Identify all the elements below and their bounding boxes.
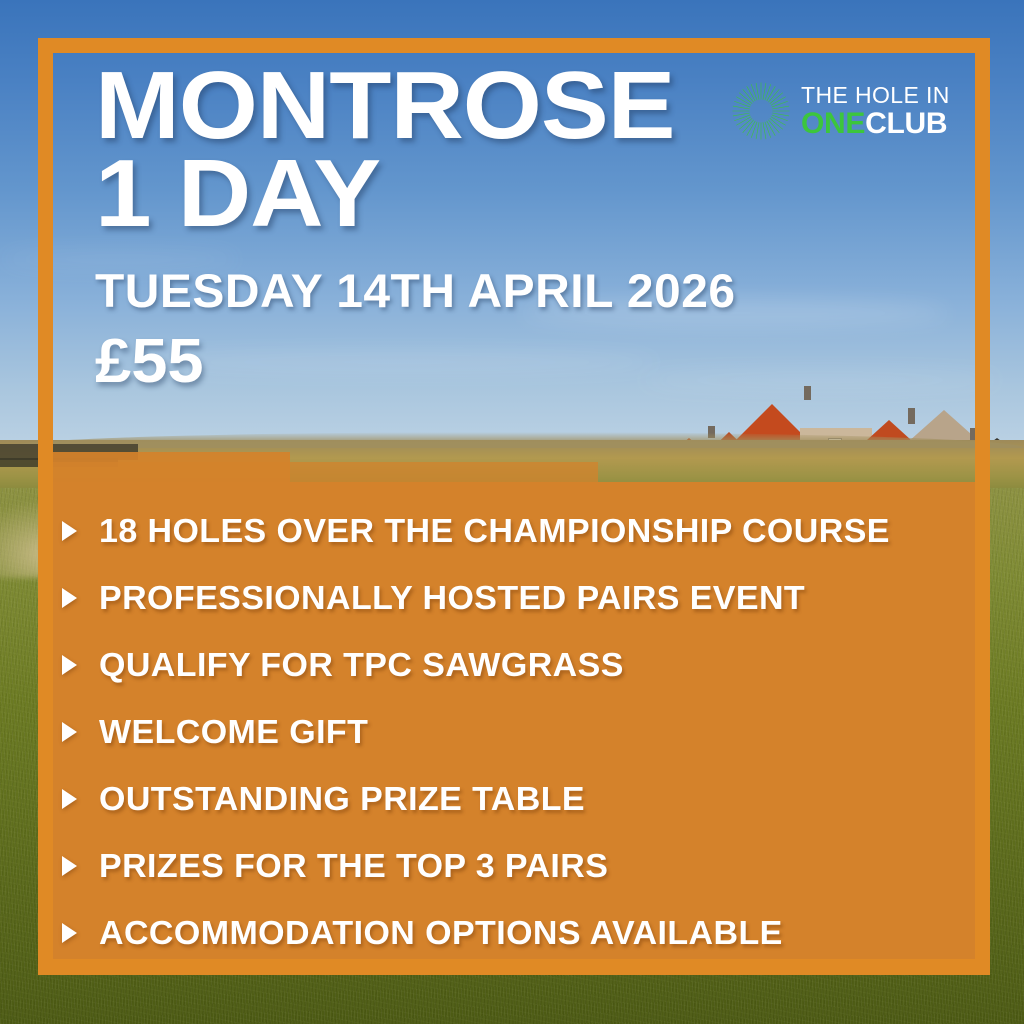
brand-line-1: THE HOLE IN [801,84,950,107]
list-item: ACCOMMODATION OPTIONS AVAILABLE [62,899,962,966]
brand-line-2: ONECLUB [801,109,950,139]
page-title-line1: MONTROSE [95,62,731,150]
list-item-label: ACCOMMODATION OPTIONS AVAILABLE [99,914,783,952]
frame-bar-right [975,452,990,975]
poster: MONTROSE 1 DAY TUESDAY 14TH APRIL 2026 £… [0,0,1024,1024]
list-item: PRIZES FOR THE TOP 3 PAIRS [62,832,962,899]
list-item-label: 18 HOLES OVER THE CHAMPIONSHIP COURSE [99,512,890,550]
triangle-right-icon [62,923,78,943]
headline-block: MONTROSE 1 DAY TUESDAY 14TH APRIL 2026 £… [95,62,695,397]
triangle-right-icon [62,789,78,809]
list-item: PROFESSIONALLY HOSTED PAIRS EVENT [62,564,962,631]
triangle-right-icon [62,521,78,541]
page-title-line2: 1 DAY [95,150,731,238]
brand-logo: THE HOLE IN ONECLUB [731,80,949,142]
list-item-label: PROFESSIONALLY HOSTED PAIRS EVENT [99,579,805,617]
frame-bar-left [38,452,53,975]
event-date: TUESDAY 14TH APRIL 2026 [95,263,707,318]
list-item-label: PRIZES FOR THE TOP 3 PAIRS [99,847,608,885]
sunburst-hole-icon [731,81,791,141]
triangle-right-icon [62,655,78,675]
list-item: WELCOME GIFT [62,698,962,765]
list-item-label: OUTSTANDING PRIZE TABLE [99,780,585,818]
list-item-label: WELCOME GIFT [99,713,368,751]
brand-word-one: ONE [801,107,865,140]
list-item: 18 HOLES OVER THE CHAMPIONSHIP COURSE [62,497,962,564]
list-item: OUTSTANDING PRIZE TABLE [62,765,962,832]
triangle-right-icon [62,722,78,742]
brand-word-club: CLUB [865,107,947,140]
triangle-right-icon [62,588,78,608]
list-item-label: QUALIFY FOR TPC SAWGRASS [99,646,624,684]
feature-list: 18 HOLES OVER THE CHAMPIONSHIP COURSE PR… [62,497,962,966]
triangle-right-icon [62,856,78,876]
list-item: QUALIFY FOR TPC SAWGRASS [62,631,962,698]
brand-wordmark: THE HOLE IN ONECLUB [801,84,950,139]
event-price: £55 [95,326,725,397]
